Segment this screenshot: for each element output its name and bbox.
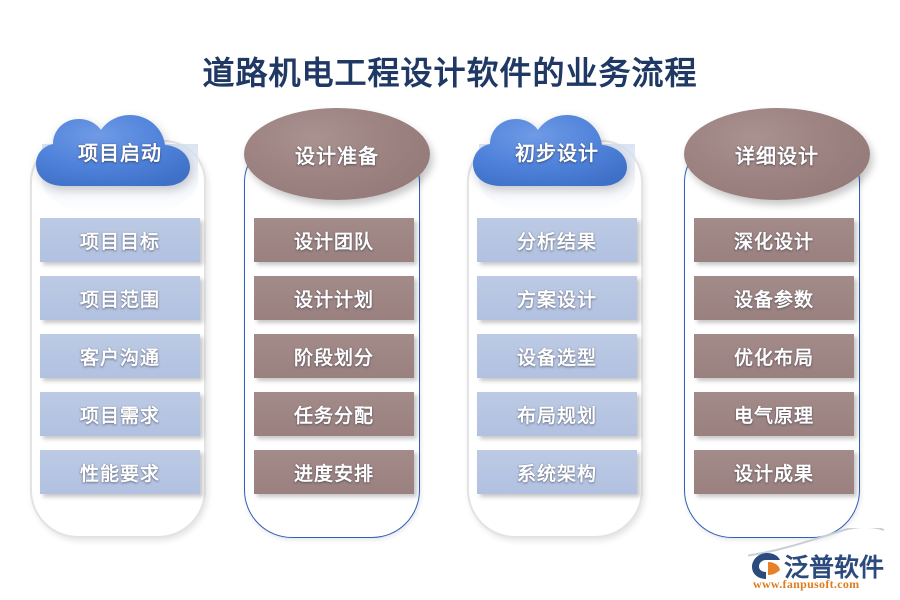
list-item-label: 设备选型 [517, 343, 597, 370]
list-item-label: 设计团队 [294, 227, 374, 254]
process-column-3: 初步设计 分析结果 方案设计 设备选型 布局规划 系统架构 [455, 112, 655, 542]
list-item-label: 性能要求 [80, 459, 160, 486]
list-item-label: 设计成果 [734, 459, 814, 486]
list-item-label: 分析结果 [517, 227, 597, 254]
list-item[interactable]: 客户沟通 [40, 334, 200, 378]
list-item[interactable]: 进度安排 [254, 450, 414, 494]
list-item-label: 设备参数 [734, 285, 814, 312]
list-item-label: 方案设计 [517, 285, 597, 312]
list-item[interactable]: 设计计划 [254, 276, 414, 320]
list-item[interactable]: 项目范围 [40, 276, 200, 320]
list-item[interactable]: 系统架构 [477, 450, 637, 494]
column-header-label: 初步设计 [515, 137, 599, 166]
list-item[interactable]: 项目目标 [40, 218, 200, 262]
list-item-label: 项目需求 [80, 401, 160, 428]
column-header-label: 设计准备 [295, 140, 379, 169]
list-item[interactable]: 阶段划分 [254, 334, 414, 378]
list-item-label: 项目范围 [80, 285, 160, 312]
list-item[interactable]: 设备参数 [694, 276, 854, 320]
list-item[interactable]: 设计成果 [694, 450, 854, 494]
column-item-list: 深化设计 设备参数 优化布局 电气原理 设计成果 [694, 218, 854, 508]
list-item-label: 设计计划 [294, 285, 374, 312]
list-item-label: 任务分配 [294, 401, 374, 428]
list-item-label: 项目目标 [80, 227, 160, 254]
column-item-list: 设计团队 设计计划 阶段划分 任务分配 进度安排 [254, 218, 414, 508]
cloud-icon: 初步设计 [471, 112, 643, 190]
list-item-label: 优化布局 [734, 343, 814, 370]
list-item[interactable]: 项目需求 [40, 392, 200, 436]
list-item[interactable]: 分析结果 [477, 218, 637, 262]
column-item-list: 项目目标 项目范围 客户沟通 项目需求 性能要求 [40, 218, 200, 508]
column-header-label: 项目启动 [78, 137, 162, 166]
process-flow-diagram: 项目启动 项目目标 项目范围 客户沟通 项目需求 性能要求 设计准备 设计团队 … [0, 112, 900, 552]
column-item-list: 分析结果 方案设计 设备选型 布局规划 系统架构 [477, 218, 637, 508]
watermark-logo: 泛普软件 www.fanpusoft.com [750, 532, 890, 592]
list-item-label: 布局规划 [517, 401, 597, 428]
list-item[interactable]: 优化布局 [694, 334, 854, 378]
process-column-1: 项目启动 项目目标 项目范围 客户沟通 项目需求 性能要求 [18, 112, 218, 542]
list-item[interactable]: 设计团队 [254, 218, 414, 262]
list-item-label: 进度安排 [294, 459, 374, 486]
list-item-label: 电气原理 [734, 401, 814, 428]
list-item-label: 系统架构 [517, 459, 597, 486]
list-item[interactable]: 设备选型 [477, 334, 637, 378]
list-item[interactable]: 布局规划 [477, 392, 637, 436]
logo-url: www.fanpusoft.com [753, 577, 859, 592]
list-item[interactable]: 任务分配 [254, 392, 414, 436]
ellipse-badge: 设计准备 [244, 108, 430, 200]
process-column-2: 设计准备 设计团队 设计计划 阶段划分 任务分配 进度安排 [232, 112, 432, 542]
process-column-4: 详细设计 深化设计 设备参数 优化布局 电气原理 设计成果 [672, 112, 872, 542]
list-item-label: 深化设计 [734, 227, 814, 254]
list-item[interactable]: 性能要求 [40, 450, 200, 494]
ellipse-badge: 详细设计 [684, 108, 870, 200]
list-item[interactable]: 深化设计 [694, 218, 854, 262]
cloud-icon: 项目启动 [34, 112, 206, 190]
list-item[interactable]: 电气原理 [694, 392, 854, 436]
list-item-label: 阶段划分 [294, 343, 374, 370]
page-title: 道路机电工程设计软件的业务流程 [0, 48, 900, 94]
column-header-label: 详细设计 [735, 140, 819, 169]
list-item[interactable]: 方案设计 [477, 276, 637, 320]
list-item-label: 客户沟通 [80, 343, 160, 370]
